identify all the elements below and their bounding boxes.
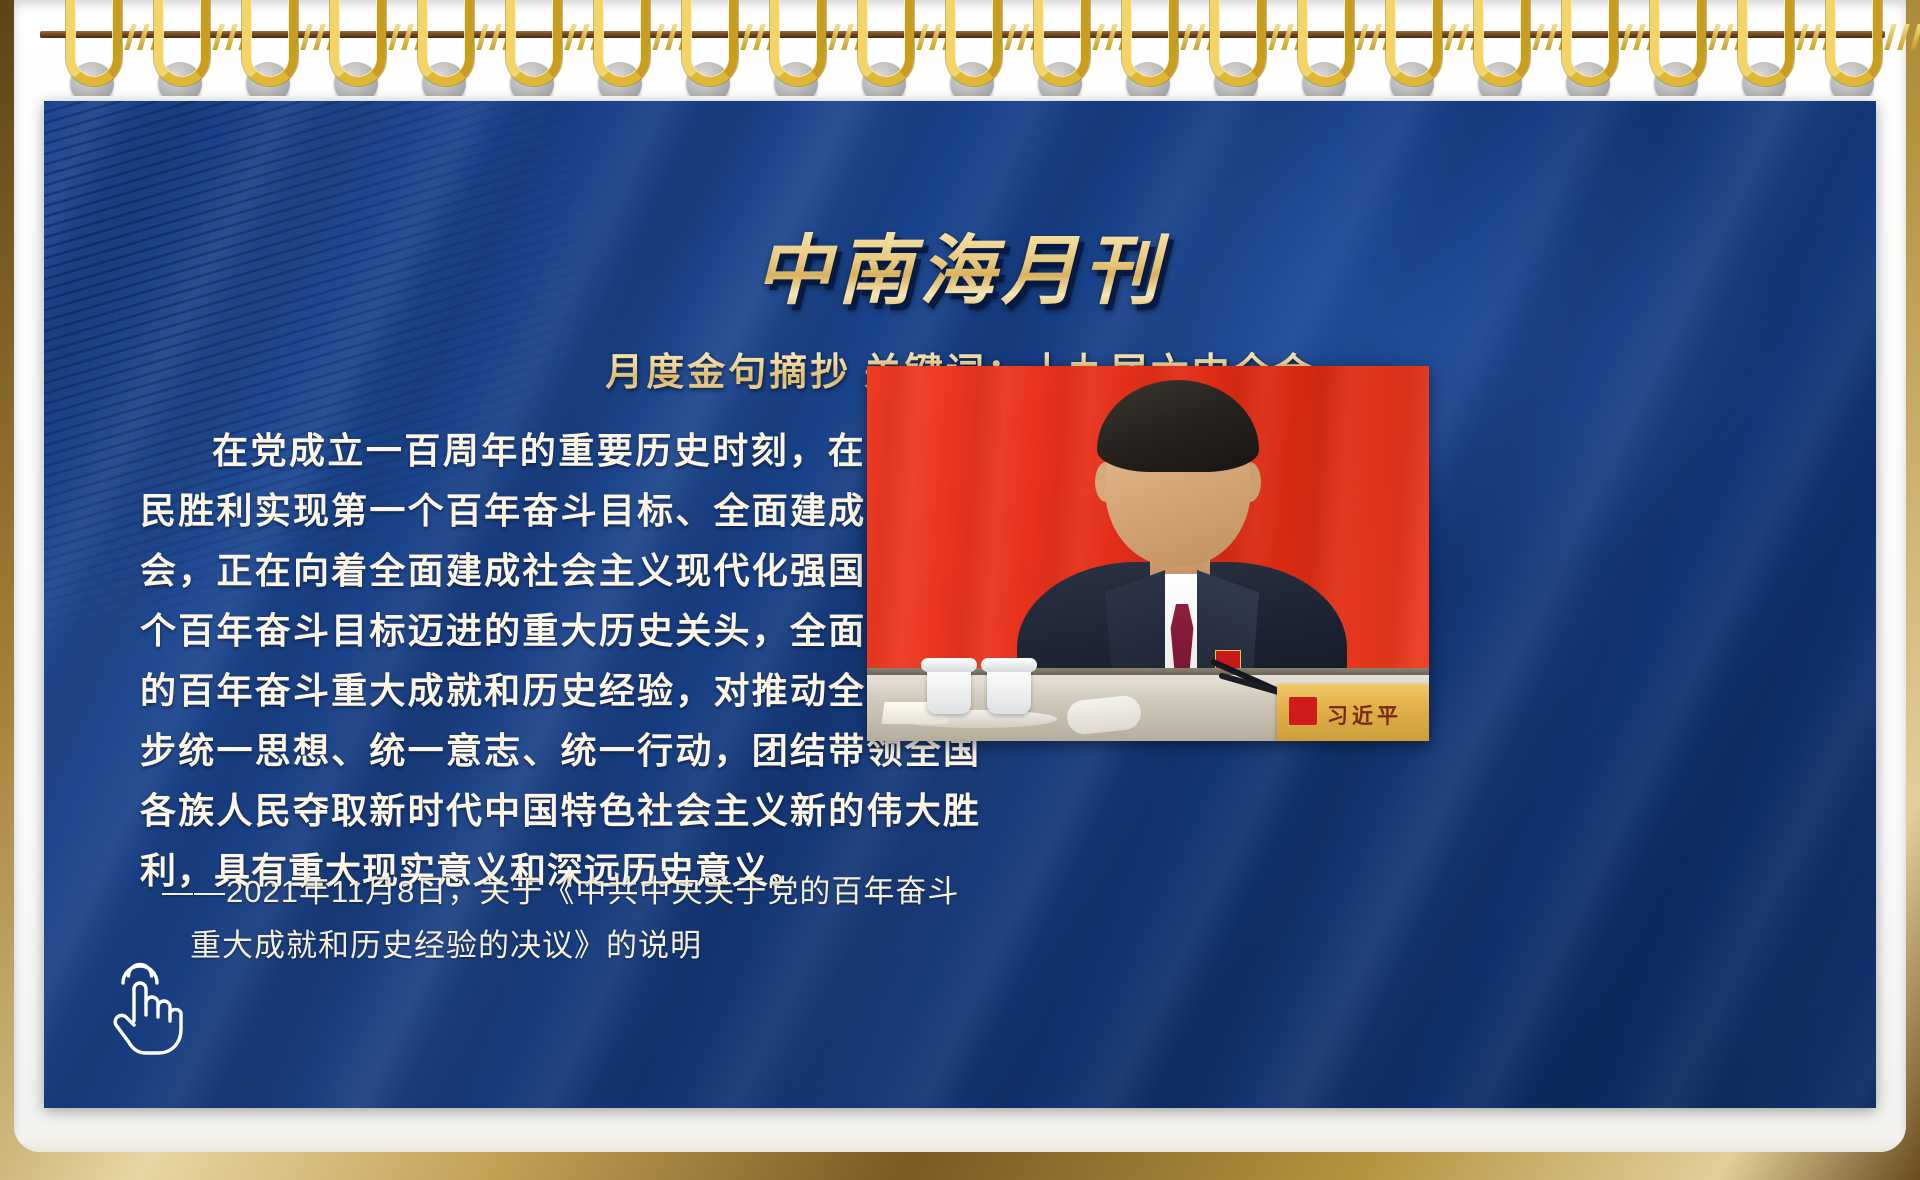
binding-ring — [1298, 0, 1354, 86]
binding-ring — [1386, 0, 1442, 86]
nameplate-text: 习近平 — [1327, 700, 1402, 730]
photo-teacup-right-lid — [981, 658, 1037, 672]
binding-ring — [946, 0, 1002, 86]
binding-tick — [1897, 24, 1909, 50]
binding-ring — [1474, 0, 1530, 86]
attribution-line-2: 重大成就和历史经验的决议》的说明 — [162, 919, 982, 973]
calendar-page-bottom-edge — [14, 1122, 1906, 1152]
quote-attribution: ——2021年11月8日，关于《中共中央关于党的百年奋斗 重大成就和历史经验的决… — [162, 865, 982, 973]
binding-ring — [66, 0, 122, 86]
binding-ring — [506, 0, 562, 86]
photo-nameplate: 习近平 — [1277, 684, 1429, 741]
binding-ring — [154, 0, 210, 86]
binding-ring — [418, 0, 474, 86]
binding-tick — [1910, 24, 1920, 50]
attribution-line-1: ——2021年11月8日，关于《中共中央关于党的百年奋斗 — [162, 865, 982, 919]
magazine-card: 中南海月刊 月度金句摘抄 关键词：十九届六中全会 在党成立一百周年的重要历史时刻… — [44, 101, 1876, 1108]
binding-ring — [1650, 0, 1706, 86]
binding-ring — [858, 0, 914, 86]
page-title: 中南海月刊 — [44, 209, 1876, 319]
binding-tick — [1884, 24, 1896, 50]
spiral-binding-icon — [0, 0, 1920, 96]
binding-ring — [1122, 0, 1178, 86]
binding-ring — [330, 0, 386, 86]
binding-ring — [1826, 0, 1882, 86]
binding-ring — [682, 0, 738, 86]
binding-ring — [242, 0, 298, 86]
leader-photo: 习近平 — [867, 366, 1429, 741]
binding-ring — [1738, 0, 1794, 86]
quote-text: 在党成立一百周年的重要历史时刻，在党和人民胜利实现第一个百年奋斗目标、全面建成小… — [140, 421, 980, 901]
quote-paragraph: 在党成立一百周年的重要历史时刻，在党和人民胜利实现第一个百年奋斗目标、全面建成小… — [140, 421, 980, 901]
binding-ring — [1210, 0, 1266, 86]
binding-ring — [1034, 0, 1090, 86]
tap-hand-icon[interactable] — [100, 959, 192, 1059]
party-emblem-icon — [1289, 697, 1317, 725]
binding-ring — [1562, 0, 1618, 86]
binding-ring — [594, 0, 650, 86]
photo-teacup-left-lid — [921, 658, 977, 672]
binding-ring — [770, 0, 826, 86]
